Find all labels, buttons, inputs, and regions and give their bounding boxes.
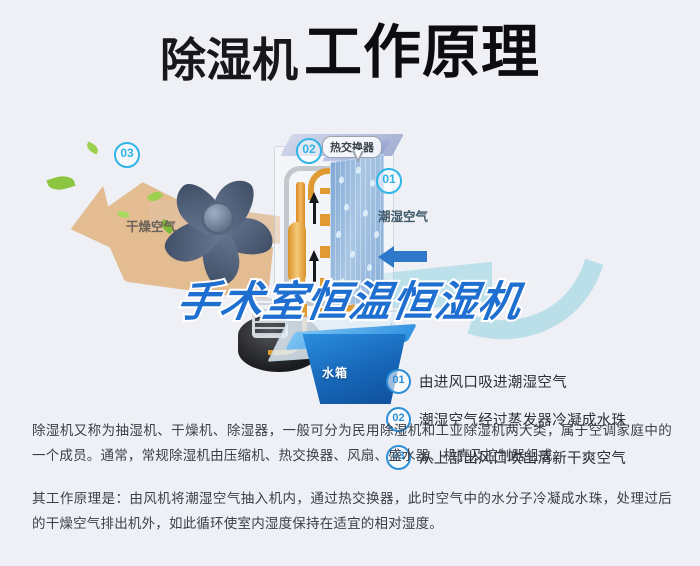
legend-item-label: 由进风口吸进潮湿空气 [419,371,567,392]
description-paragraph-2: 其工作原理是：由风机将潮湿空气抽入机内，通过热交换器，此时空气中的水分子冷凝成水… [32,486,672,536]
heat-exchanger-callout-tail [352,151,364,163]
page-title-small: 除湿机 [160,34,298,86]
watermark-label: 手术室恒温恒湿机 [174,278,525,325]
leaf-icon [85,141,100,154]
humid-air-label: 潮湿空气 [378,206,428,225]
page-title: 除湿机工作原理 [0,24,700,83]
poster-root: 除湿机工作原理 [0,0,700,566]
legend-item: 01 由进风口吸进潮湿空气 [386,370,686,392]
flow-arrow-stem [313,202,316,224]
description-block: 除湿机又称为抽湿机、干燥机、除湿器，一般可分为民用除湿机和工业除湿机两大类，属于… [32,418,672,554]
flow-arrow-up-icon [309,250,319,261]
dry-air-label: 干燥空气 [126,216,176,235]
fan-hub [204,204,232,232]
inflow-arrow-icon [378,246,394,268]
water-tank-label: 水箱 [322,364,348,381]
page-title-large: 工作原理 [304,20,540,85]
diagram-badge-03: 03 [114,142,140,168]
watermark-text: 手术室恒温恒湿机 [173,268,527,329]
description-paragraph-1: 除湿机又称为抽湿机、干燥机、除湿器，一般可分为民用除湿机和工业除湿机两大类，属于… [32,418,672,468]
diagram-badge-02: 02 [296,138,322,164]
diagram-badge-01: 01 [376,168,402,194]
legend-badge: 01 [386,369,411,394]
dehumidifier-diagram: 水箱 01 02 03 热交换器 干燥空气 潮湿空气 01 由进风口吸进潮湿空气… [0,118,700,393]
inflow-arrow-stem [393,251,427,262]
flow-arrow-up-icon [309,192,319,203]
